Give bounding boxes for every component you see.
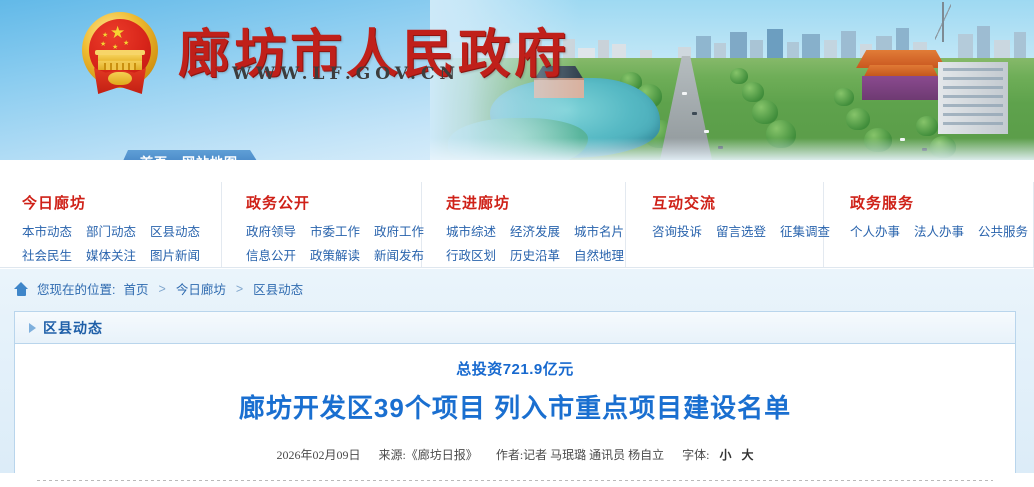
menu-column-jinri-langfang: 今日廊坊 本市动态 部门动态 区县动态 社会民生 媒体关注 图片新闻 (0, 182, 222, 268)
photo-transmission-tower (935, 2, 951, 42)
menu-item-shehui-minsheng[interactable]: 社会民生 (22, 245, 72, 264)
article-headline: 廊坊开发区39个项目 列入市重点项目建设名单 (15, 388, 1015, 425)
menu-item-xingzheng-quhua[interactable]: 行政区划 (446, 245, 496, 264)
menu-item-chengshi-mingpian[interactable]: 城市名片 (574, 221, 624, 240)
breadcrumb-item-home[interactable]: 首页 (123, 279, 148, 298)
site-url: WWW.LF.GOV.CN (232, 64, 460, 84)
breadcrumb-separator: > (159, 282, 166, 296)
menu-item-geren-banshi[interactable]: 个人办事 (850, 221, 900, 240)
menu-bottom-divider (0, 267, 1034, 268)
menu-row: 信息公开 政策解读 新闻发布 (246, 245, 421, 264)
menu-item-quxian-dongtai[interactable]: 区县动态 (150, 221, 200, 240)
article-kicker: 总投资721.9亿元 (15, 358, 1015, 379)
font-size-small-button[interactable]: 小 (720, 446, 732, 463)
font-size-control: 字体: 小 大 (682, 446, 753, 463)
menu-row: 城市综述 经济发展 城市名片 (446, 221, 625, 240)
menu-item-jingji-fazhan[interactable]: 经济发展 (510, 221, 560, 240)
triangle-right-icon (29, 323, 36, 333)
home-icon (14, 282, 29, 296)
menu-item-ziran-dili[interactable]: 自然地理 (574, 245, 624, 264)
article-source: 来源:《廊坊日报》 (378, 446, 477, 463)
article-date: 2026年02月09日 (276, 446, 360, 463)
menu-row: 社会民生 媒体关注 图片新闻 (22, 245, 221, 264)
font-size-large-button[interactable]: 大 (742, 446, 754, 463)
menu-item-zhengji-diaocha[interactable]: 征集调查 (780, 221, 830, 240)
menu-column-zhengwu-fuwu: 政务服务 个人办事 法人办事 公共服务 (824, 182, 1034, 268)
quick-nav-home[interactable]: 首页 (140, 152, 168, 161)
breadcrumb-item-jinri-langfang[interactable]: 今日廊坊 (176, 279, 226, 298)
article-container: 总投资721.9亿元 廊坊开发区39个项目 列入市重点项目建设名单 2026年0… (15, 358, 1015, 487)
article-source-value: 《廊坊日报》 (406, 448, 478, 462)
menu-column-title[interactable]: 互动交流 (652, 192, 823, 213)
content-panel-header: 区县动态 (15, 312, 1015, 344)
menu-item-zhengce-jiedu[interactable]: 政策解读 (310, 245, 360, 264)
menu-row: 咨询投诉 留言选登 征集调查 (652, 221, 823, 240)
menu-item-lishi-yan'ge[interactable]: 历史沿革 (510, 245, 560, 264)
content-panel: 区县动态 总投资721.9亿元 廊坊开发区39个项目 列入市重点项目建设名单 2… (14, 311, 1016, 473)
photo-bottom-fade (430, 138, 1034, 160)
menu-item-chengshi-zongshu[interactable]: 城市综述 (446, 221, 496, 240)
photo-traditional-temple (850, 48, 952, 100)
main-menu: 今日廊坊 本市动态 部门动态 区县动态 社会民生 媒体关注 图片新闻 政务公开 … (0, 182, 1034, 268)
menu-row: 本市动态 部门动态 区县动态 (22, 221, 221, 240)
page-body: 您现在的位置: 首页 > 今日廊坊 > 区县动态 区县动态 总投资721.9亿元… (0, 269, 1034, 473)
article-author-value: 记者 马珉璐 通讯员 杨自立 (523, 448, 664, 462)
quick-nav-tab: 首页 网站地图 (118, 150, 264, 160)
breadcrumb-label: 您现在的位置: (37, 279, 115, 298)
menu-item-xinxi-gongkai[interactable]: 信息公开 (246, 245, 296, 264)
breadcrumb: 您现在的位置: 首页 > 今日廊坊 > 区县动态 (0, 269, 1034, 306)
article-source-label: 来源: (378, 448, 405, 462)
article-author-label: 作者: (496, 448, 523, 462)
menu-row: 政府领导 市委工作 政府工作 (246, 221, 421, 240)
menu-item-gonggong-fuwu[interactable]: 公共服务 (978, 221, 1028, 240)
menu-item-shiwei-gongzuo[interactable]: 市委工作 (310, 221, 360, 240)
menu-item-meiti-guanzhu[interactable]: 媒体关注 (86, 245, 136, 264)
content-panel-title: 区县动态 (43, 318, 103, 338)
quick-nav-sitemap[interactable]: 网站地图 (182, 152, 238, 161)
breadcrumb-separator: > (236, 282, 243, 296)
menu-column-title[interactable]: 政务公开 (246, 192, 421, 213)
font-size-label: 字体: (682, 446, 709, 463)
menu-item-bumen-dongtai[interactable]: 部门动态 (86, 221, 136, 240)
menu-column-zhengwu-gongkai: 政务公开 政府领导 市委工作 政府工作 信息公开 政策解读 新闻发布 (222, 182, 422, 268)
menu-row: 行政区划 历史沿革 自然地理 (446, 245, 625, 264)
menu-item-liuyan-xuandeng[interactable]: 留言选登 (716, 221, 766, 240)
article-author: 作者:记者 马珉璐 通讯员 杨自立 (496, 446, 664, 463)
menu-row: 个人办事 法人办事 公共服务 (850, 221, 1033, 240)
breadcrumb-item-quxian-dongtai[interactable]: 区县动态 (253, 279, 303, 298)
china-national-emblem-icon: ★ ★ ★ ★ ★ (78, 10, 162, 100)
menu-column-hudong-jiaoliu: 互动交流 咨询投诉 留言选登 征集调查 (626, 182, 824, 268)
menu-column-title[interactable]: 走进廊坊 (446, 192, 625, 213)
menu-item-xinwen-fabu[interactable]: 新闻发布 (374, 245, 424, 264)
menu-item-tupian-xinwen[interactable]: 图片新闻 (150, 245, 200, 264)
menu-column-title[interactable]: 今日廊坊 (22, 192, 221, 213)
menu-item-zixun-tousu[interactable]: 咨询投诉 (652, 221, 702, 240)
menu-item-zhengfu-gongzuo[interactable]: 政府工作 (374, 221, 424, 240)
menu-column-zoujin-langfang: 走进廊坊 城市综述 经济发展 城市名片 行政区划 历史沿革 自然地理 (422, 182, 626, 268)
menu-item-zhengfu-lingdao[interactable]: 政府领导 (246, 221, 296, 240)
menu-item-benshi-dongtai[interactable]: 本市动态 (22, 221, 72, 240)
article-meta-divider (37, 480, 993, 481)
menu-item-faren-banshi[interactable]: 法人办事 (914, 221, 964, 240)
article-meta: 2026年02月09日 来源:《廊坊日报》 作者:记者 马珉璐 通讯员 杨自立 … (15, 446, 1015, 463)
site-header: ★ ★ ★ ★ ★ 廊坊市人民政府 WWW.LF.GOV.CN 首页 网站地图 (0, 0, 1034, 160)
photo-office-tower (938, 62, 1008, 134)
menu-column-title[interactable]: 政务服务 (850, 192, 1033, 213)
